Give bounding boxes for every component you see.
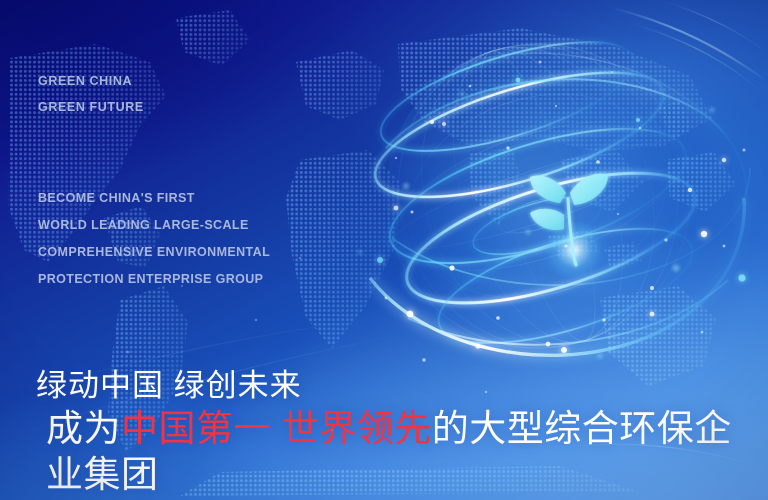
headline-line-2-prefix: 成为	[46, 408, 121, 449]
subhead-line-1: BECOME CHINA'S FIRST	[38, 185, 270, 212]
headline-accent-text: 中国第一 世界领先	[121, 408, 432, 449]
sprout-seedling-icon	[520, 163, 616, 271]
headline-line-1: 绿动中国 绿创未来	[36, 366, 768, 406]
subhead-line-3: COMPREHENSIVE ENVIRONMENTAL	[38, 239, 270, 266]
subhead-line-4: PROTECTION ENTERPRISE GROUP	[38, 266, 270, 293]
eyebrow-line-2: GREEN FUTURE	[38, 94, 144, 120]
promo-banner: GREEN CHINA GREEN FUTURE BECOME CHINA'S …	[0, 0, 768, 500]
headline-block: 绿动中国 绿创未来 成为中国第一 世界领先的大型综合环保企业集团	[36, 366, 768, 498]
subhead-line-2: WORLD LEADING LARGE-SCALE	[38, 212, 270, 239]
headline-line-2: 成为中国第一 世界领先的大型综合环保企业集团	[46, 406, 768, 498]
subhead-text-block: BECOME CHINA'S FIRST WORLD LEADING LARGE…	[38, 185, 270, 293]
eyebrow-text-block: GREEN CHINA GREEN FUTURE	[38, 68, 144, 120]
eyebrow-line-1: GREEN CHINA	[38, 68, 144, 94]
